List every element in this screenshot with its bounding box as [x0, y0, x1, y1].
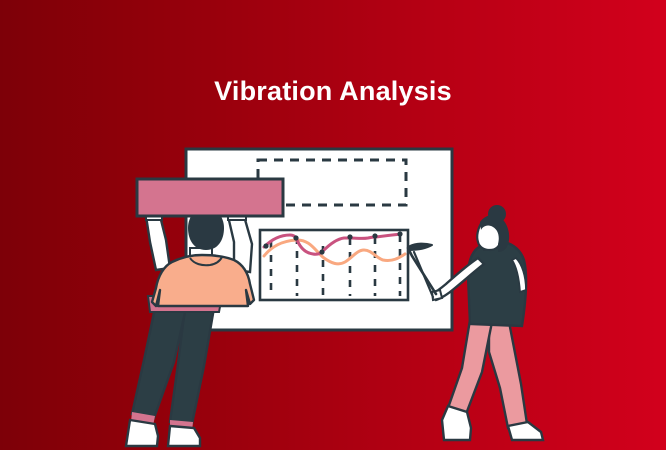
right-person-back-leg: [489, 322, 527, 428]
left-person-left-shoe: [126, 420, 158, 446]
right-person-front-shoe: [442, 406, 471, 440]
data-point: [319, 249, 324, 254]
right-person-torso: [468, 241, 526, 326]
chart-panel: [260, 230, 408, 300]
data-point: [372, 233, 377, 238]
data-point: [293, 235, 298, 240]
data-point: [347, 234, 352, 239]
data-point: [263, 243, 268, 248]
right-person-front-leg: [448, 320, 492, 414]
data-point: [397, 231, 402, 236]
right-person-hair-bun: [488, 205, 506, 223]
right-person-back-shoe: [508, 422, 543, 440]
banner-surface: [137, 179, 283, 216]
illustration-vibration-analysis: [0, 0, 666, 450]
left-person-right-shoe: [168, 426, 200, 446]
pink-banner: [137, 179, 283, 216]
poster-canvas: Vibration Analysis: [0, 0, 666, 450]
left-person-left-arm: [146, 216, 170, 270]
